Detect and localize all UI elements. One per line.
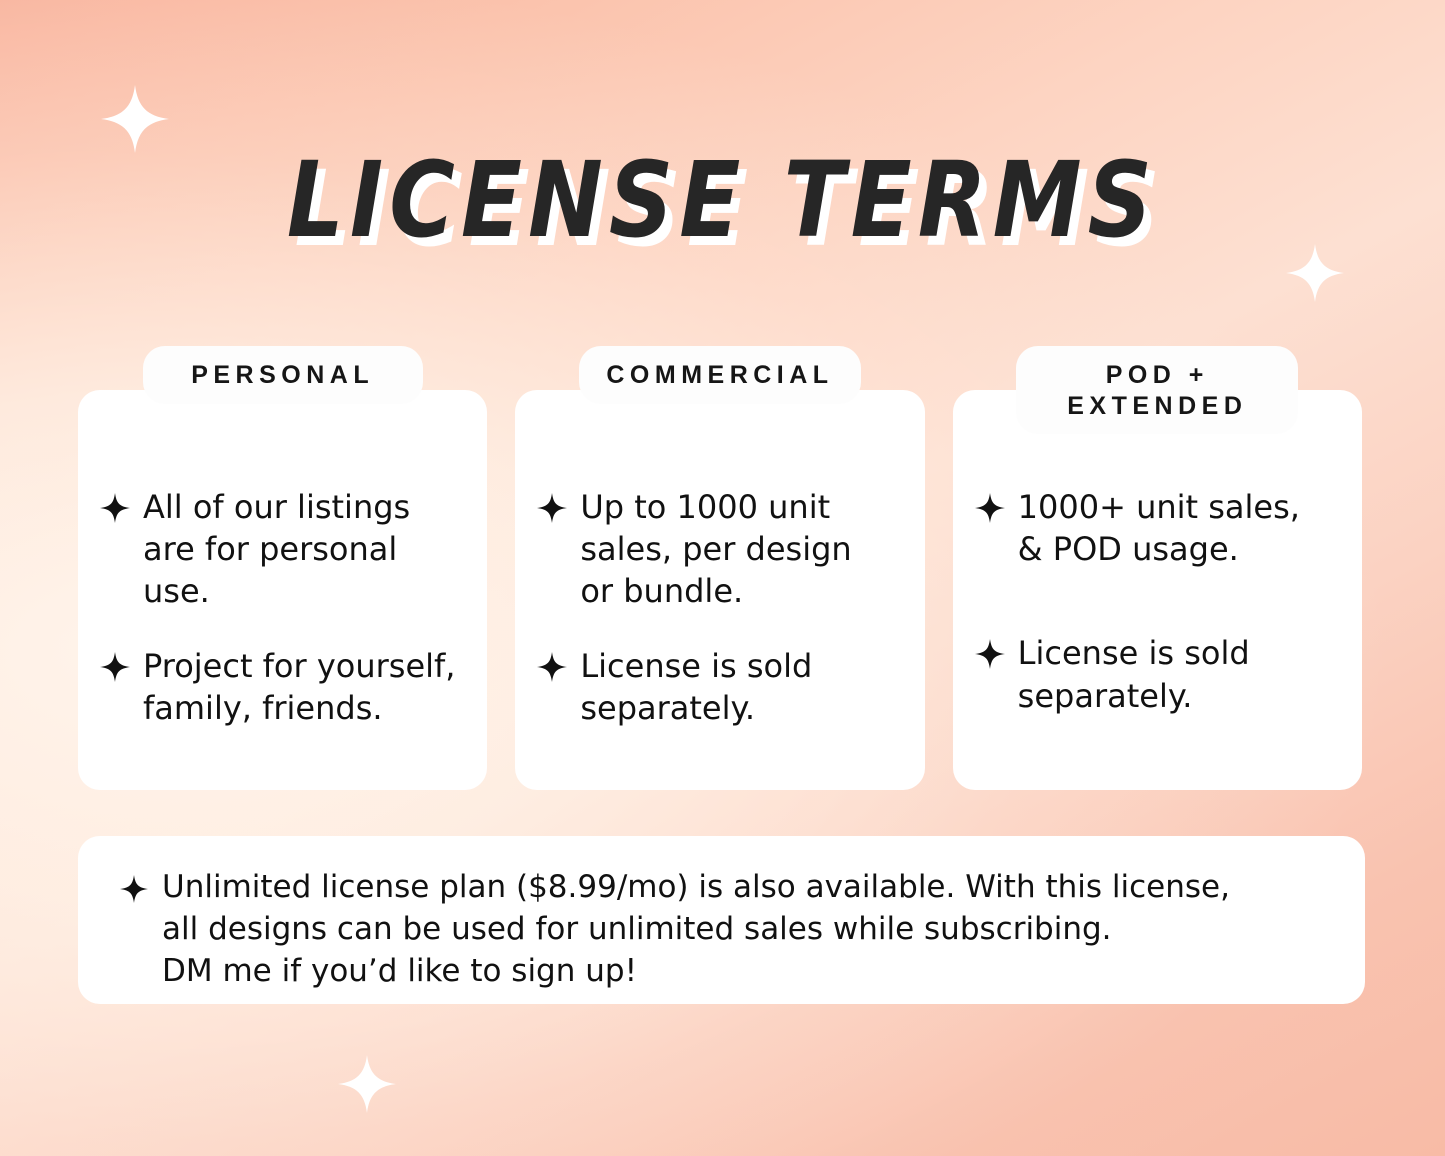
- bullet-text: License is sold separately.: [580, 645, 812, 729]
- sparkle-icon-top-right: [1286, 244, 1344, 302]
- card-body-pod-extended: 1000+ unit sales, & POD usage. License i…: [953, 390, 1362, 717]
- card-tab-commercial: COMMERCIAL: [579, 346, 861, 404]
- bullet-item: License is sold separately.: [537, 645, 904, 729]
- page-title-container: LICENSE TERMS: [0, 148, 1445, 252]
- bullet-item: All of our listings are for personal use…: [100, 486, 467, 613]
- four-point-star-icon: [120, 875, 148, 903]
- four-point-star-icon: [975, 639, 1005, 669]
- bullet-item: 1000+ unit sales, & POD usage.: [975, 486, 1342, 570]
- card-tab-pod-extended: POD + EXTENDED: [1016, 346, 1298, 434]
- license-terms-poster: LICENSE TERMS PERSONAL All of our listin…: [0, 0, 1445, 1156]
- license-card-commercial: COMMERCIAL Up to 1000 unit sales, per de…: [515, 390, 924, 790]
- card-body-personal: All of our listings are for personal use…: [78, 390, 487, 729]
- four-point-star-icon: [537, 493, 567, 523]
- sparkle-icon-top-left: [101, 85, 169, 153]
- card-tab-personal: PERSONAL: [143, 346, 423, 404]
- bullet-text: License is sold separately.: [1018, 632, 1250, 716]
- license-card-list: PERSONAL All of our listings are for per…: [78, 390, 1362, 790]
- bullet-text: All of our listings are for personal use…: [143, 486, 410, 613]
- four-point-star-icon: [537, 652, 567, 682]
- four-point-star-icon: [100, 652, 130, 682]
- bullet-text: Up to 1000 unit sales, per design or bun…: [580, 486, 851, 613]
- card-body-commercial: Up to 1000 unit sales, per design or bun…: [515, 390, 924, 729]
- four-point-star-icon: [975, 493, 1005, 523]
- bullet-item: Project for yourself, family, friends.: [100, 645, 467, 729]
- bullet-text: Project for yourself, family, friends.: [143, 645, 455, 729]
- bullet-item: Up to 1000 unit sales, per design or bun…: [537, 486, 904, 613]
- license-card-pod-extended: POD + EXTENDED 1000+ unit sales, & POD u…: [953, 390, 1362, 790]
- unlimited-license-text: Unlimited license plan ($8.99/mo) is als…: [162, 867, 1230, 993]
- sparkle-icon-bottom-left: [338, 1055, 396, 1113]
- four-point-star-icon: [100, 493, 130, 523]
- unlimited-license-banner: Unlimited license plan ($8.99/mo) is als…: [78, 836, 1365, 1004]
- bullet-item: License is sold separately.: [975, 632, 1342, 716]
- license-card-personal: PERSONAL All of our listings are for per…: [78, 390, 487, 790]
- page-title: LICENSE TERMS: [287, 148, 1158, 252]
- bullet-text: 1000+ unit sales, & POD usage.: [1018, 486, 1300, 570]
